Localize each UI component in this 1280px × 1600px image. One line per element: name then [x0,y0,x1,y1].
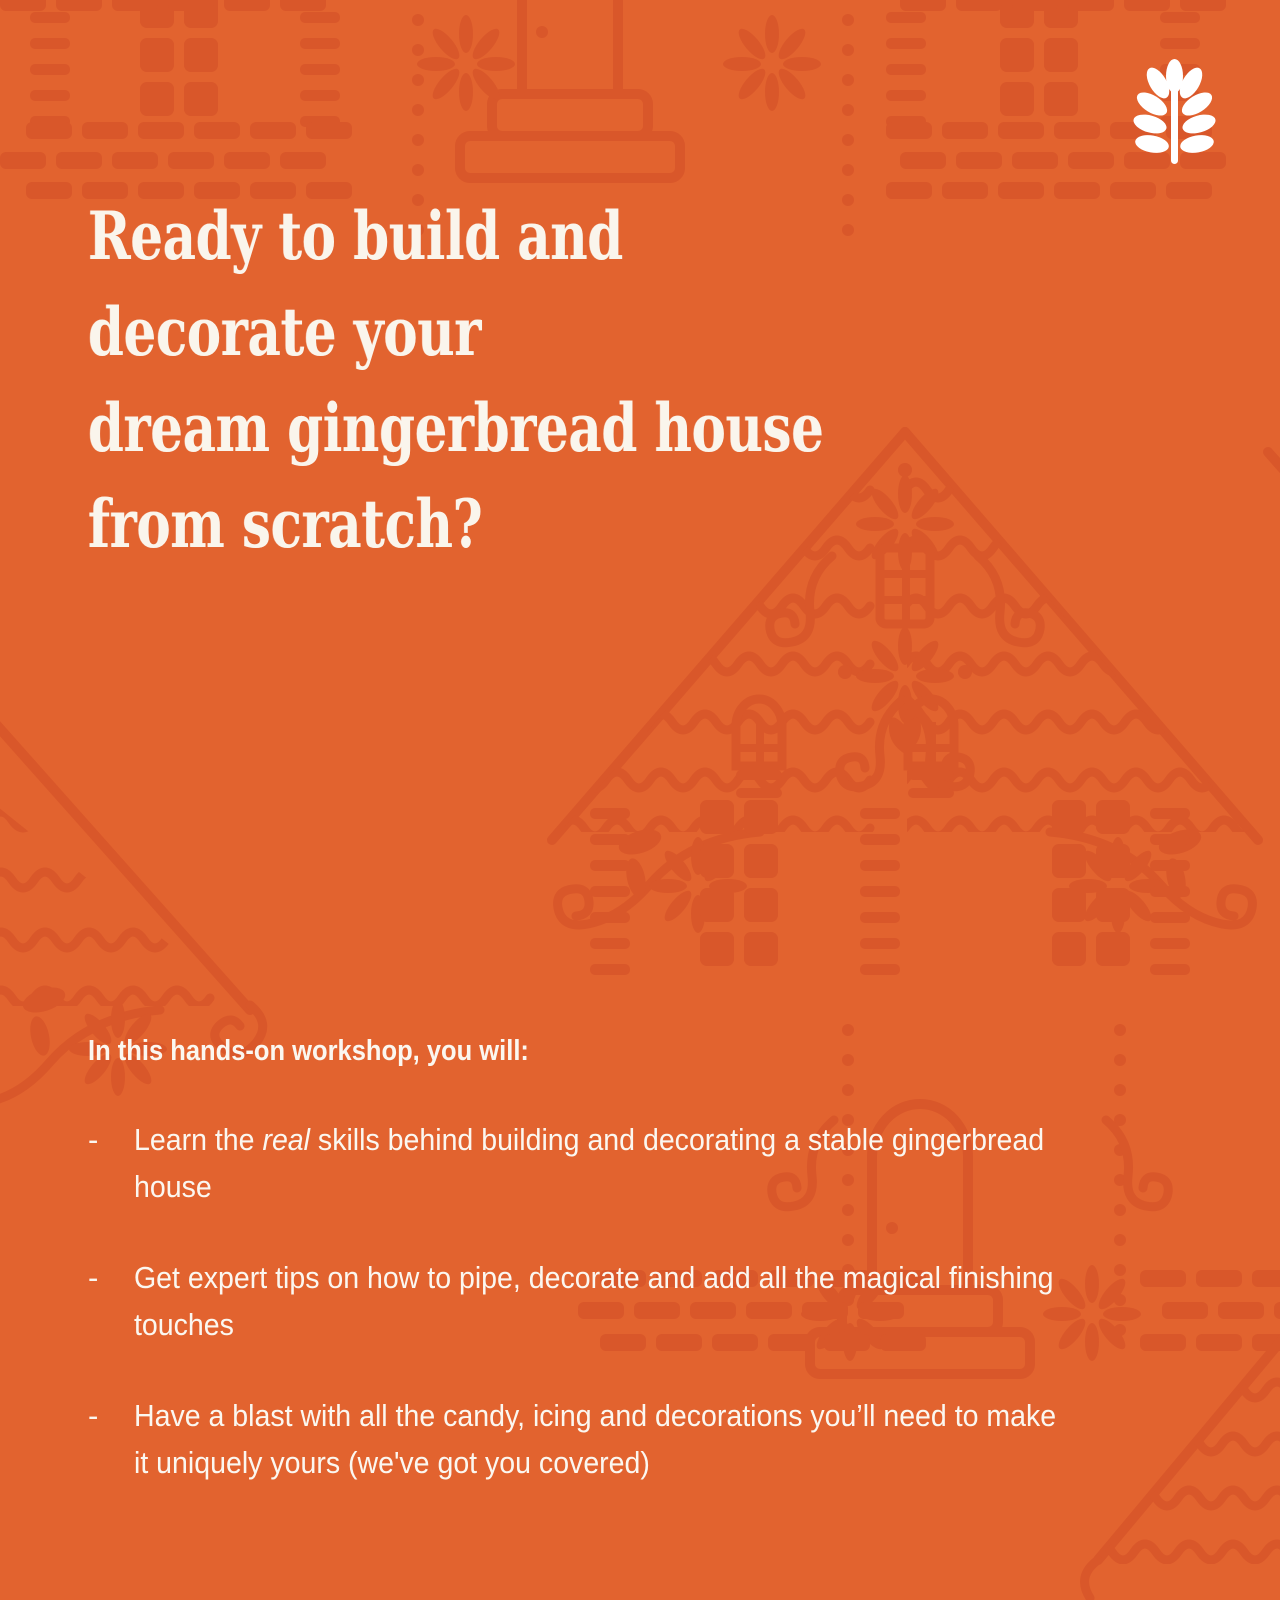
list-item-label: Have a blast with all the candy, icing a… [134,1392,1067,1486]
list-item-label: Get expert tips on how to pipe, decorate… [134,1254,1067,1348]
gingerbread-house-roof-left-edge [0,560,263,1103]
bullet-dash-icon: - [88,1392,134,1439]
gingerbread-house-roof-right-repeat [1268,452,1280,760]
workshop-details: In this hands-on workshop, you will: - L… [88,1034,1148,1530]
list-item: - Have a blast with all the candy, icing… [88,1392,1148,1486]
bullet-text-emphasis: real [262,1122,310,1157]
list-item: - Get expert tips on how to pipe, decora… [88,1254,1148,1348]
fern-sprig-logo [1128,56,1220,168]
bullet-dash-icon: - [88,1116,134,1163]
list-item: - Learn the real skills behind building … [88,1116,1148,1210]
page-title: Ready to build and decorate your dream g… [88,188,868,572]
list-item-label: Learn the real skills behind building an… [134,1116,1067,1210]
workshop-lede: In this hands-on workshop, you will: [88,1034,1021,1068]
bullet-dash-icon: - [88,1254,134,1301]
poster-canvas: Ready to build and decorate your dream g… [0,0,1280,1600]
bullet-text-before: Learn the [134,1122,262,1157]
